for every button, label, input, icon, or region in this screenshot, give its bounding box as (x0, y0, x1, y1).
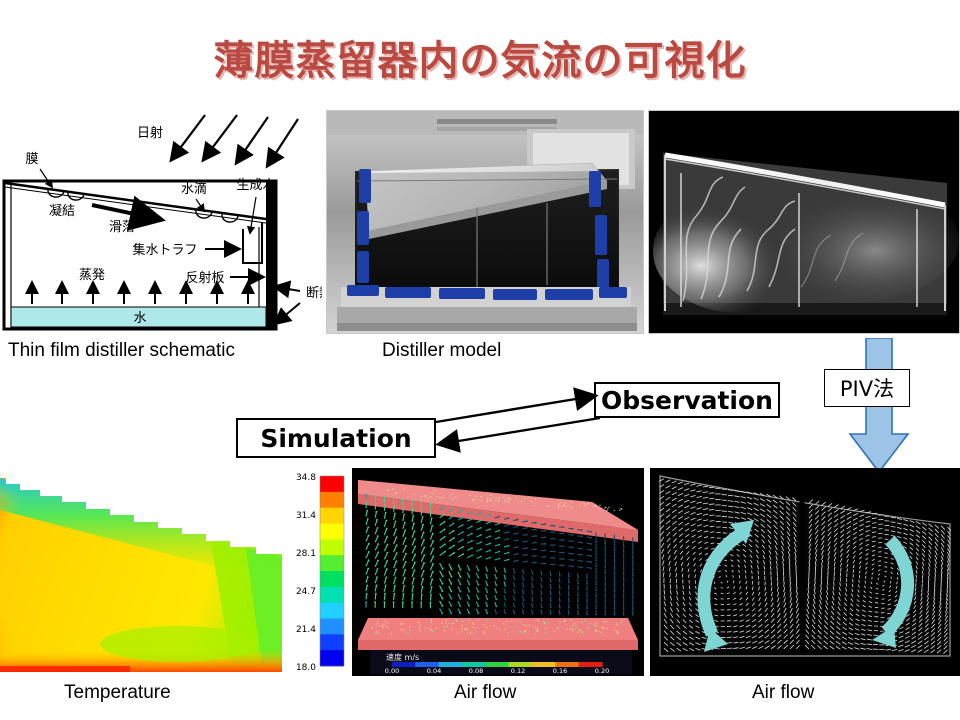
cfd-legend-tick: 0.20 (595, 667, 609, 675)
schematic-label-collection-trough: 集水トラフ (132, 242, 197, 258)
distiller-model-photo (326, 110, 644, 334)
cfd-legend-tick: 0.00 (385, 667, 399, 675)
schematic-label-product-water: 生成水 (236, 178, 275, 193)
cfd-legend-tick: 0.16 (553, 667, 567, 675)
caption-airflow-piv: Air flow (752, 682, 814, 704)
observation-label: Observation (601, 386, 773, 415)
cfd-legend-tick: 0.12 (511, 667, 525, 675)
schematic-label-film: 膜 (25, 152, 38, 167)
simulation-observation-arrows (430, 382, 606, 460)
caption-distiller-model: Distiller model (382, 340, 501, 362)
cfd-legend-tick: 0.04 (427, 667, 441, 675)
temperature-colorbar: 34.831.428.124.721.418.0 (290, 470, 350, 674)
page-title: 薄膜蒸留器内の気流の可視化 (0, 28, 960, 86)
piv-airflow-vector-plot (650, 468, 960, 676)
thin-film-distiller-schematic: 日射 (0, 107, 322, 337)
smoke-visualization-photo (648, 110, 960, 334)
temperature-colorbar-tick: 24.7 (296, 587, 316, 597)
observation-box[interactable]: Observation (594, 382, 780, 418)
cfd-airflow-vector-plot: 速度 m/s 0.000.040.080.120.160.20 (352, 468, 644, 676)
temperature-colorbar-tick: 21.4 (296, 625, 316, 635)
piv-method-label: PIV法 (824, 369, 910, 407)
schematic-label-solar: 日射 (137, 125, 163, 141)
simulation-label: Simulation (260, 424, 411, 453)
caption-thin-film-distiller-schematic: Thin film distiller schematic (8, 340, 235, 362)
piv-method-text: PIV法 (840, 373, 894, 403)
schematic-label-droplet: 水滴 (181, 181, 207, 197)
temperature-colorbar-tick: 18.0 (296, 663, 316, 673)
schematic-label-water: 水 (133, 311, 146, 326)
piv-down-arrow (836, 338, 922, 476)
cfd-legend-title: 速度 m/s (386, 652, 419, 662)
schematic-label-slide-down: 滑落 (109, 220, 135, 235)
temperature-contour-plot (0, 468, 282, 676)
simulation-box[interactable]: Simulation (236, 418, 436, 458)
schematic-label-evaporation: 蒸発 (79, 268, 105, 283)
temperature-colorbar-tick: 34.8 (296, 473, 316, 483)
schematic-label-condensation: 凝結 (49, 203, 75, 219)
caption-temperature: Temperature (64, 682, 171, 704)
temperature-colorbar-tick: 31.4 (296, 511, 316, 521)
caption-airflow-simulation: Air flow (454, 682, 516, 704)
cfd-legend-tick: 0.08 (469, 667, 483, 675)
schematic-label-reflector: 反射板 (185, 270, 224, 286)
temperature-colorbar-tick: 28.1 (296, 549, 316, 559)
schematic-label-insulation: 断熱材 (306, 286, 322, 301)
